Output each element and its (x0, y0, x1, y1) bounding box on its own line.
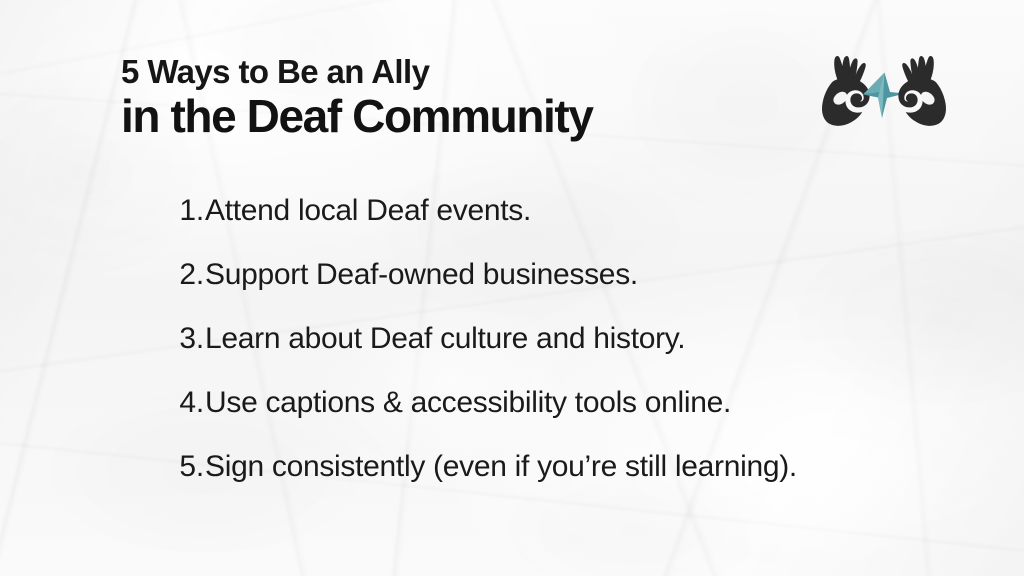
list-item-number: 5. (170, 450, 204, 484)
sign-language-hands-icon (808, 52, 960, 140)
right-hand-shape (898, 56, 946, 126)
list-item-number: 1. (170, 194, 204, 228)
title-line-secondary: in the Deaf Community (121, 90, 593, 142)
list-item-label: Use captions & accessibility tools onlin… (204, 386, 731, 420)
list-item-number: 4. (170, 386, 204, 420)
page-title: 5 Ways to Be an Ally in the Deaf Communi… (121, 52, 593, 142)
tips-list: 1. Attend local Deaf events. 2. Support … (130, 194, 970, 514)
list-item: 3. Learn about Deaf culture and history. (170, 322, 970, 386)
list-item-number: 2. (170, 258, 204, 292)
title-line-primary: 5 Ways to Be an Ally (121, 52, 593, 92)
slide-canvas: 5 Ways to Be an Ally in the Deaf Communi… (0, 0, 1024, 576)
list-item-label: Support Deaf-owned businesses. (204, 258, 638, 292)
list-item: 5. Sign consistently (even if you’re sti… (170, 450, 970, 514)
list-item: 2. Support Deaf-owned businesses. (170, 258, 970, 322)
list-item: 1. Attend local Deaf events. (170, 194, 970, 258)
list-item-label: Attend local Deaf events. (204, 194, 531, 228)
list-item-label: Sign consistently (even if you’re still … (204, 450, 797, 484)
list-item-number: 3. (170, 322, 204, 356)
left-hand-shape (822, 56, 870, 126)
list-item: 4. Use captions & accessibility tools on… (170, 386, 970, 450)
list-item-label: Learn about Deaf culture and history. (204, 322, 685, 356)
slide-content: 5 Ways to Be an Ally in the Deaf Communi… (0, 0, 1024, 576)
